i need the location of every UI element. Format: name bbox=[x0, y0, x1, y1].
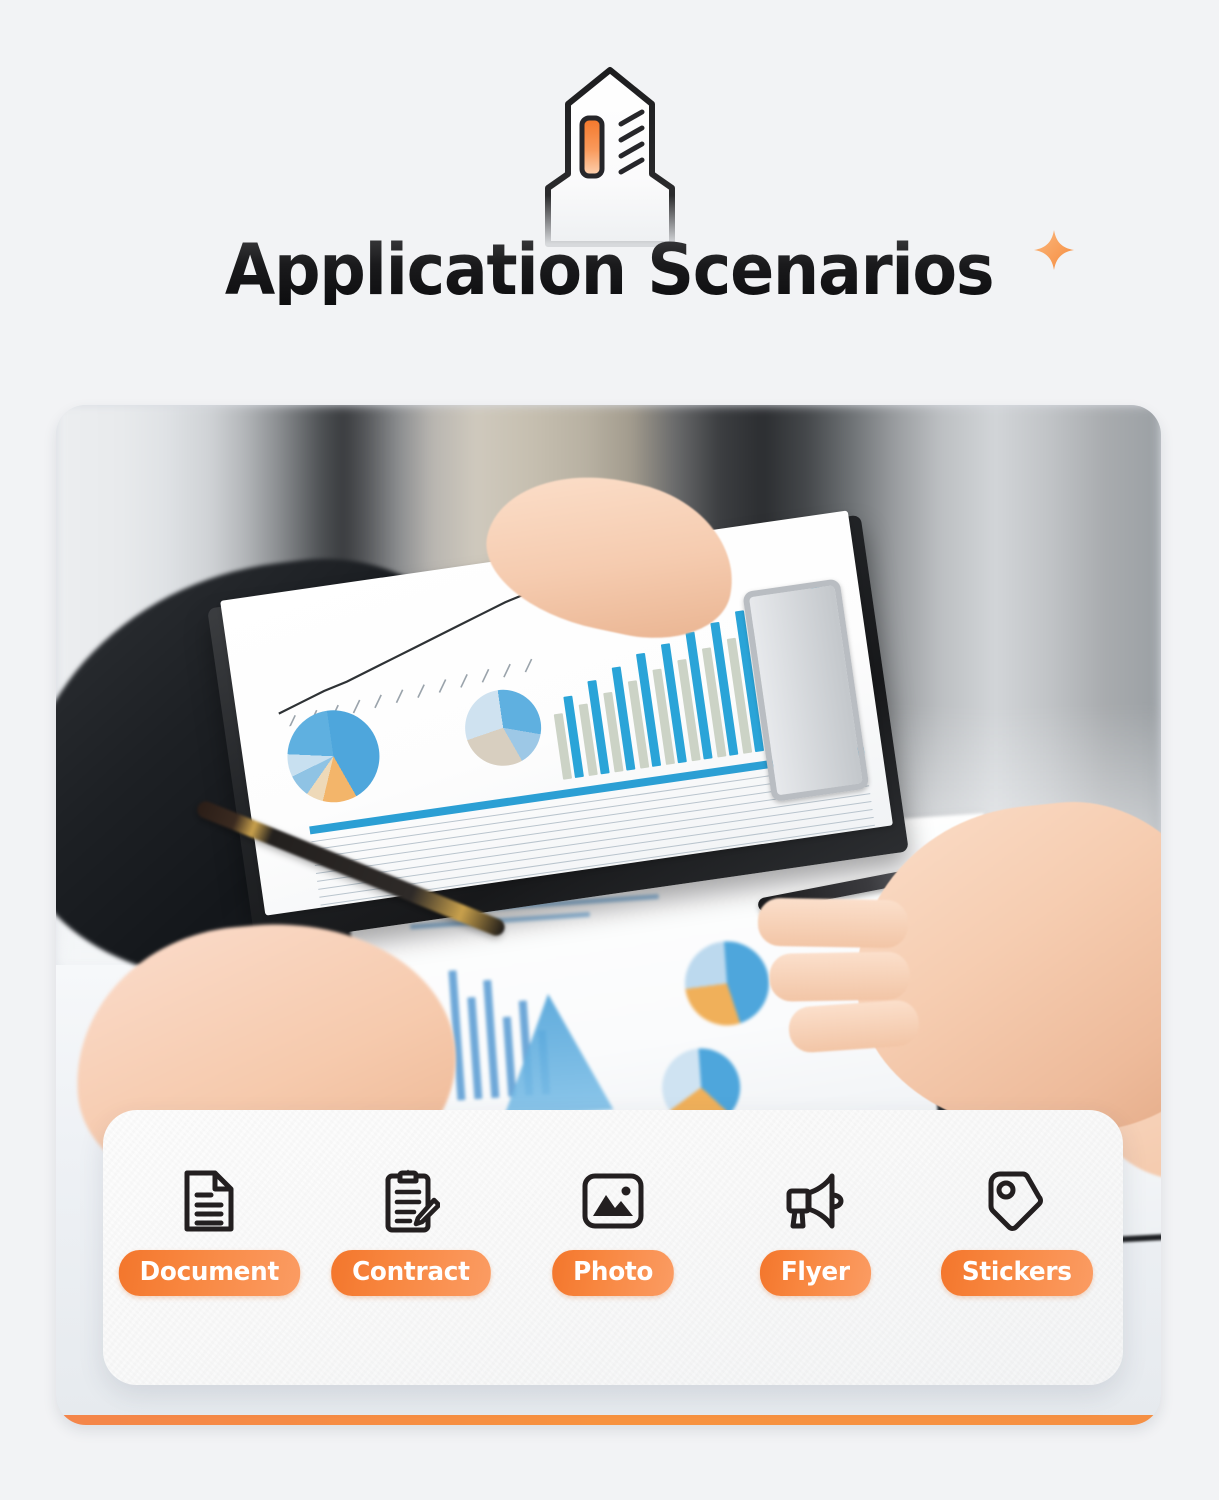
scenario-label-contract[interactable]: Contract bbox=[331, 1250, 490, 1296]
page-title: Application Scenarios bbox=[225, 235, 993, 305]
tag-icon bbox=[984, 1168, 1050, 1234]
scenario-label-stickers[interactable]: Stickers bbox=[941, 1250, 1093, 1296]
page-header: Application Scenarios bbox=[0, 0, 1219, 390]
photo-icon bbox=[580, 1168, 646, 1234]
scenario-item-stickers[interactable]: Stickers bbox=[935, 1168, 1099, 1296]
scenario-label-document[interactable]: Document bbox=[118, 1250, 299, 1296]
application-scenarios-card: Document Contract bbox=[103, 1110, 1123, 1385]
scenario-item-photo[interactable]: Photo bbox=[531, 1168, 695, 1296]
scenario-item-flyer[interactable]: Flyer bbox=[733, 1168, 897, 1296]
megaphone-icon bbox=[782, 1168, 848, 1234]
sparkle-icon bbox=[1032, 228, 1076, 272]
scenario-list: Document Contract bbox=[103, 1168, 1123, 1296]
document-icon bbox=[176, 1168, 242, 1234]
scenario-item-contract[interactable]: Contract bbox=[329, 1168, 493, 1296]
scenario-label-photo[interactable]: Photo bbox=[552, 1250, 674, 1296]
scenario-label-flyer[interactable]: Flyer bbox=[760, 1250, 871, 1296]
building-skyscraper-icon bbox=[500, 62, 720, 252]
contract-icon bbox=[378, 1168, 444, 1234]
scenario-item-document[interactable]: Document bbox=[127, 1168, 291, 1296]
